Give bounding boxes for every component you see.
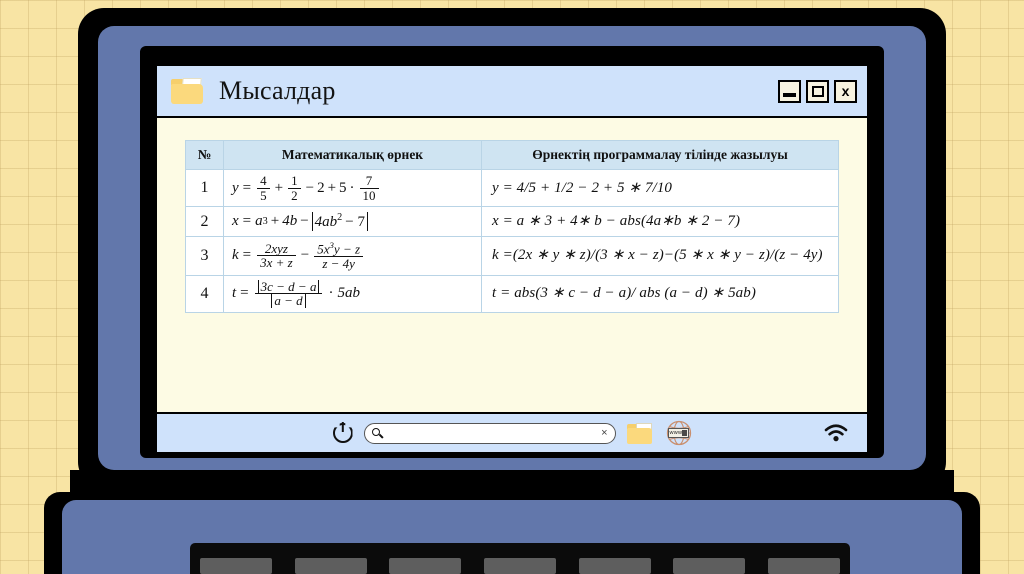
row-number: 2 <box>186 207 224 237</box>
fraction-1: 3c − d − a a − d <box>255 280 323 308</box>
clear-search-icon[interactable]: × <box>601 428 607 439</box>
math-term: 4b <box>282 213 297 230</box>
fraction-denominator: 10 <box>360 189 379 203</box>
close-button[interactable]: x <box>834 80 857 103</box>
math-operator: + <box>275 180 283 197</box>
maximize-icon <box>812 86 824 97</box>
fraction-numerator: 3c − d − a <box>255 280 323 295</box>
math-equals: = <box>243 213 251 230</box>
math-lhs: y <box>232 180 239 197</box>
keyboard-key[interactable] <box>579 558 651 574</box>
table-body: 1 y = 4 5 + 1 <box>186 169 839 312</box>
math-operator: − <box>306 180 314 197</box>
math-dot-operator: · <box>350 180 355 197</box>
globe-icon[interactable]: www <box>666 420 692 446</box>
math-expression: k = 2xyz 3x + z − 5x3y − z z − 4y <box>224 236 482 275</box>
window-titlebar: Мысалдар x <box>157 66 867 118</box>
search-input[interactable] <box>388 428 597 439</box>
fraction-1: 4 5 <box>257 174 270 202</box>
minimize-button[interactable] <box>778 80 801 103</box>
math-term: 2 <box>317 180 325 197</box>
row-number: 1 <box>186 169 224 206</box>
search-icon <box>372 428 383 439</box>
math-operator: − <box>301 247 309 264</box>
fraction-numerator: 5x3y − z <box>314 241 363 257</box>
math-lhs: t <box>232 285 236 302</box>
taskbar-folder-icon[interactable] <box>627 423 655 444</box>
keyboard-key[interactable] <box>389 558 461 574</box>
program-expression: x = a ∗ 3 + 4∗ b − abs(4a∗b ∗ 2 − 7) <box>482 207 839 237</box>
taskbar-right-group <box>823 423 849 443</box>
column-header-number: № <box>186 141 224 170</box>
math-operator: − <box>300 213 308 230</box>
abs-term: − 7 <box>345 214 365 230</box>
keyboard-key[interactable] <box>768 558 840 574</box>
absolute-value-group: 4ab2− 7 <box>312 212 368 231</box>
window-controls: x <box>778 80 857 103</box>
keyboard-key[interactable] <box>295 558 367 574</box>
math-term: 5 <box>339 180 347 197</box>
power-icon[interactable] <box>333 423 353 443</box>
folder-icon <box>171 78 207 104</box>
program-expression: y = 4/5 + 1/2 − 2 + 5 ∗ 7/10 <box>482 169 839 206</box>
fraction-numerator: 2xyz <box>257 242 296 257</box>
abs-term: 4ab <box>315 214 338 230</box>
search-box[interactable]: × <box>364 423 616 444</box>
fraction-denominator: z − 4y <box>314 257 363 271</box>
math-lhs: x <box>232 213 239 230</box>
math-exponent: 2 <box>337 212 342 223</box>
keyboard-key[interactable] <box>484 558 556 574</box>
keyboard-key[interactable] <box>200 558 272 574</box>
table-row: 2 x = a3 + 4b − 4ab2− 7 <box>186 207 839 237</box>
fraction-denominator: 2 <box>288 189 301 203</box>
math-term: a <box>255 213 263 230</box>
math-operator: + <box>271 213 279 230</box>
minimize-icon <box>783 93 796 97</box>
taskbar: × www <box>157 412 867 452</box>
math-expression: t = 3c − d − a a − d · 5ab <box>224 275 482 312</box>
fraction-denominator: a − d <box>255 294 323 308</box>
fraction-2: 5x3y − z z − 4y <box>314 241 363 271</box>
fraction-numerator: 1 <box>288 174 301 189</box>
window-title: Мысалдар <box>219 76 778 106</box>
www-label: www <box>668 428 690 438</box>
column-header-program: Өрнектің программалау тілінде жазылуы <box>482 141 839 170</box>
row-number: 4 <box>186 275 224 312</box>
math-term: 5ab <box>337 285 360 302</box>
laptop-device: Мысалдар x № Математикал <box>0 0 1024 574</box>
wifi-icon[interactable] <box>823 423 849 443</box>
keyboard-panel <box>190 543 850 574</box>
column-header-math: Математикалық өрнек <box>224 141 482 170</box>
fraction-2: 1 2 <box>288 174 301 202</box>
examples-table: № Математикалық өрнек Өрнектің программа… <box>185 140 839 313</box>
table-row: 3 k = 2xyz 3x + z − <box>186 236 839 275</box>
taskbar-center-group: × www <box>157 420 867 446</box>
table-row: 4 t = 3c − d − a a − d · 5ab <box>186 275 839 312</box>
fraction-numerator: 4 <box>257 174 270 189</box>
fraction-1: 2xyz 3x + z <box>257 242 296 270</box>
math-equals: = <box>243 247 251 264</box>
row-number: 3 <box>186 236 224 275</box>
numerator-part: 5x <box>317 241 329 256</box>
table-header: № Математикалық өрнек Өрнектің программа… <box>186 141 839 170</box>
window-content: № Математикалық өрнек Өрнектің программа… <box>157 118 867 412</box>
fraction-numerator: 7 <box>360 174 379 189</box>
math-equals: = <box>240 285 248 302</box>
math-equals: = <box>243 180 251 197</box>
table-row: 1 y = 4 5 + 1 <box>186 169 839 206</box>
fraction-3: 7 10 <box>360 174 379 202</box>
fraction-denominator: 3x + z <box>257 256 296 270</box>
math-operator: + <box>328 180 336 197</box>
program-expression: k =(2x ∗ y ∗ z)/(3 ∗ x − z)−(5 ∗ x ∗ y −… <box>482 236 839 275</box>
math-dot-operator: · <box>328 285 333 302</box>
screen-content: Мысалдар x № Математикал <box>157 66 867 452</box>
math-lhs: k <box>232 247 239 264</box>
table-header-row: № Математикалық өрнек Өрнектің программа… <box>186 141 839 170</box>
math-expression: x = a3 + 4b − 4ab2− 7 <box>224 207 482 237</box>
absolute-value-group: 3c − d − a <box>258 280 320 294</box>
fraction-denominator: 5 <box>257 189 270 203</box>
keyboard-key[interactable] <box>673 558 745 574</box>
program-expression: t = abs(3 ∗ c − d − a)/ abs (a − d) ∗ 5a… <box>482 275 839 312</box>
math-expression: y = 4 5 + 1 2 <box>224 169 482 206</box>
math-exponent: 3 <box>263 216 268 227</box>
maximize-button[interactable] <box>806 80 829 103</box>
numerator-part: y − z <box>334 241 360 256</box>
absolute-value-group: a − d <box>271 294 305 308</box>
